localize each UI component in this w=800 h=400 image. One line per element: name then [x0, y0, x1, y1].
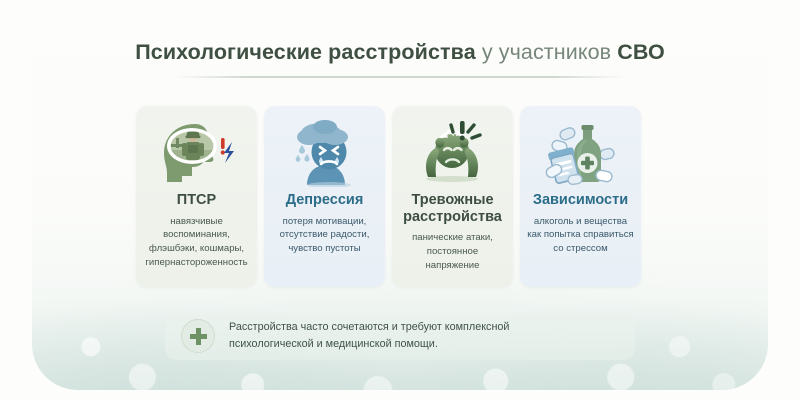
medical-cross-icon — [181, 319, 215, 353]
title-strong: Психологические расстройства — [135, 40, 476, 64]
disorder-card-addiction[interactable]: Зависимости алкоголь и вещества как попы… — [520, 106, 641, 287]
bottle-and-pills-icon — [526, 116, 635, 190]
stressed-person-head-hands-icon — [398, 116, 507, 190]
title-divider — [175, 76, 625, 78]
disorder-card-anxiety[interactable]: Тревожные расстройства панические атаки,… — [392, 106, 513, 287]
sad-face-rain-cloud-icon — [270, 116, 379, 190]
summary-note: Расстройства часто сочетаются и требуют … — [165, 312, 635, 360]
summary-note-line-1: Расстройства часто сочетаются и требуют … — [229, 319, 509, 336]
infographic-root: Психологические расстройства у участнико… — [0, 0, 800, 400]
card-title: Зависимости — [526, 192, 635, 209]
summary-note-line-2: психологической и медицинской помощи. — [229, 336, 509, 353]
title-strong-2: СВО — [617, 40, 665, 64]
disorder-card-depression[interactable]: Депрессия потеря мотивации, отсутствие р… — [264, 106, 385, 287]
card-description: потеря мотивации, отсутствие радости, чу… — [270, 215, 379, 256]
disorder-card-ptsr[interactable]: ПТСР навязчивые воспоминания, флэшбэки, … — [136, 106, 257, 287]
page-title: Психологические расстройства у участнико… — [0, 40, 800, 65]
card-title: Тревожные расстройства — [398, 192, 507, 225]
card-description: навязчивые воспоминания, флэшбэки, кошма… — [142, 215, 251, 269]
card-description: алкоголь и вещества как попытка справить… — [526, 215, 635, 256]
head-with-soldier-thought-icon — [142, 116, 251, 190]
card-description: панические атаки, постоянное напряжение — [398, 231, 507, 272]
disorder-card-list: ПТСР навязчивые воспоминания, флэшбэки, … — [136, 106, 664, 287]
summary-note-text: Расстройства часто сочетаются и требуют … — [229, 319, 509, 354]
card-title: Депрессия — [270, 192, 379, 209]
card-title: ПТСР — [142, 192, 251, 209]
title-light: у участников — [476, 40, 618, 64]
